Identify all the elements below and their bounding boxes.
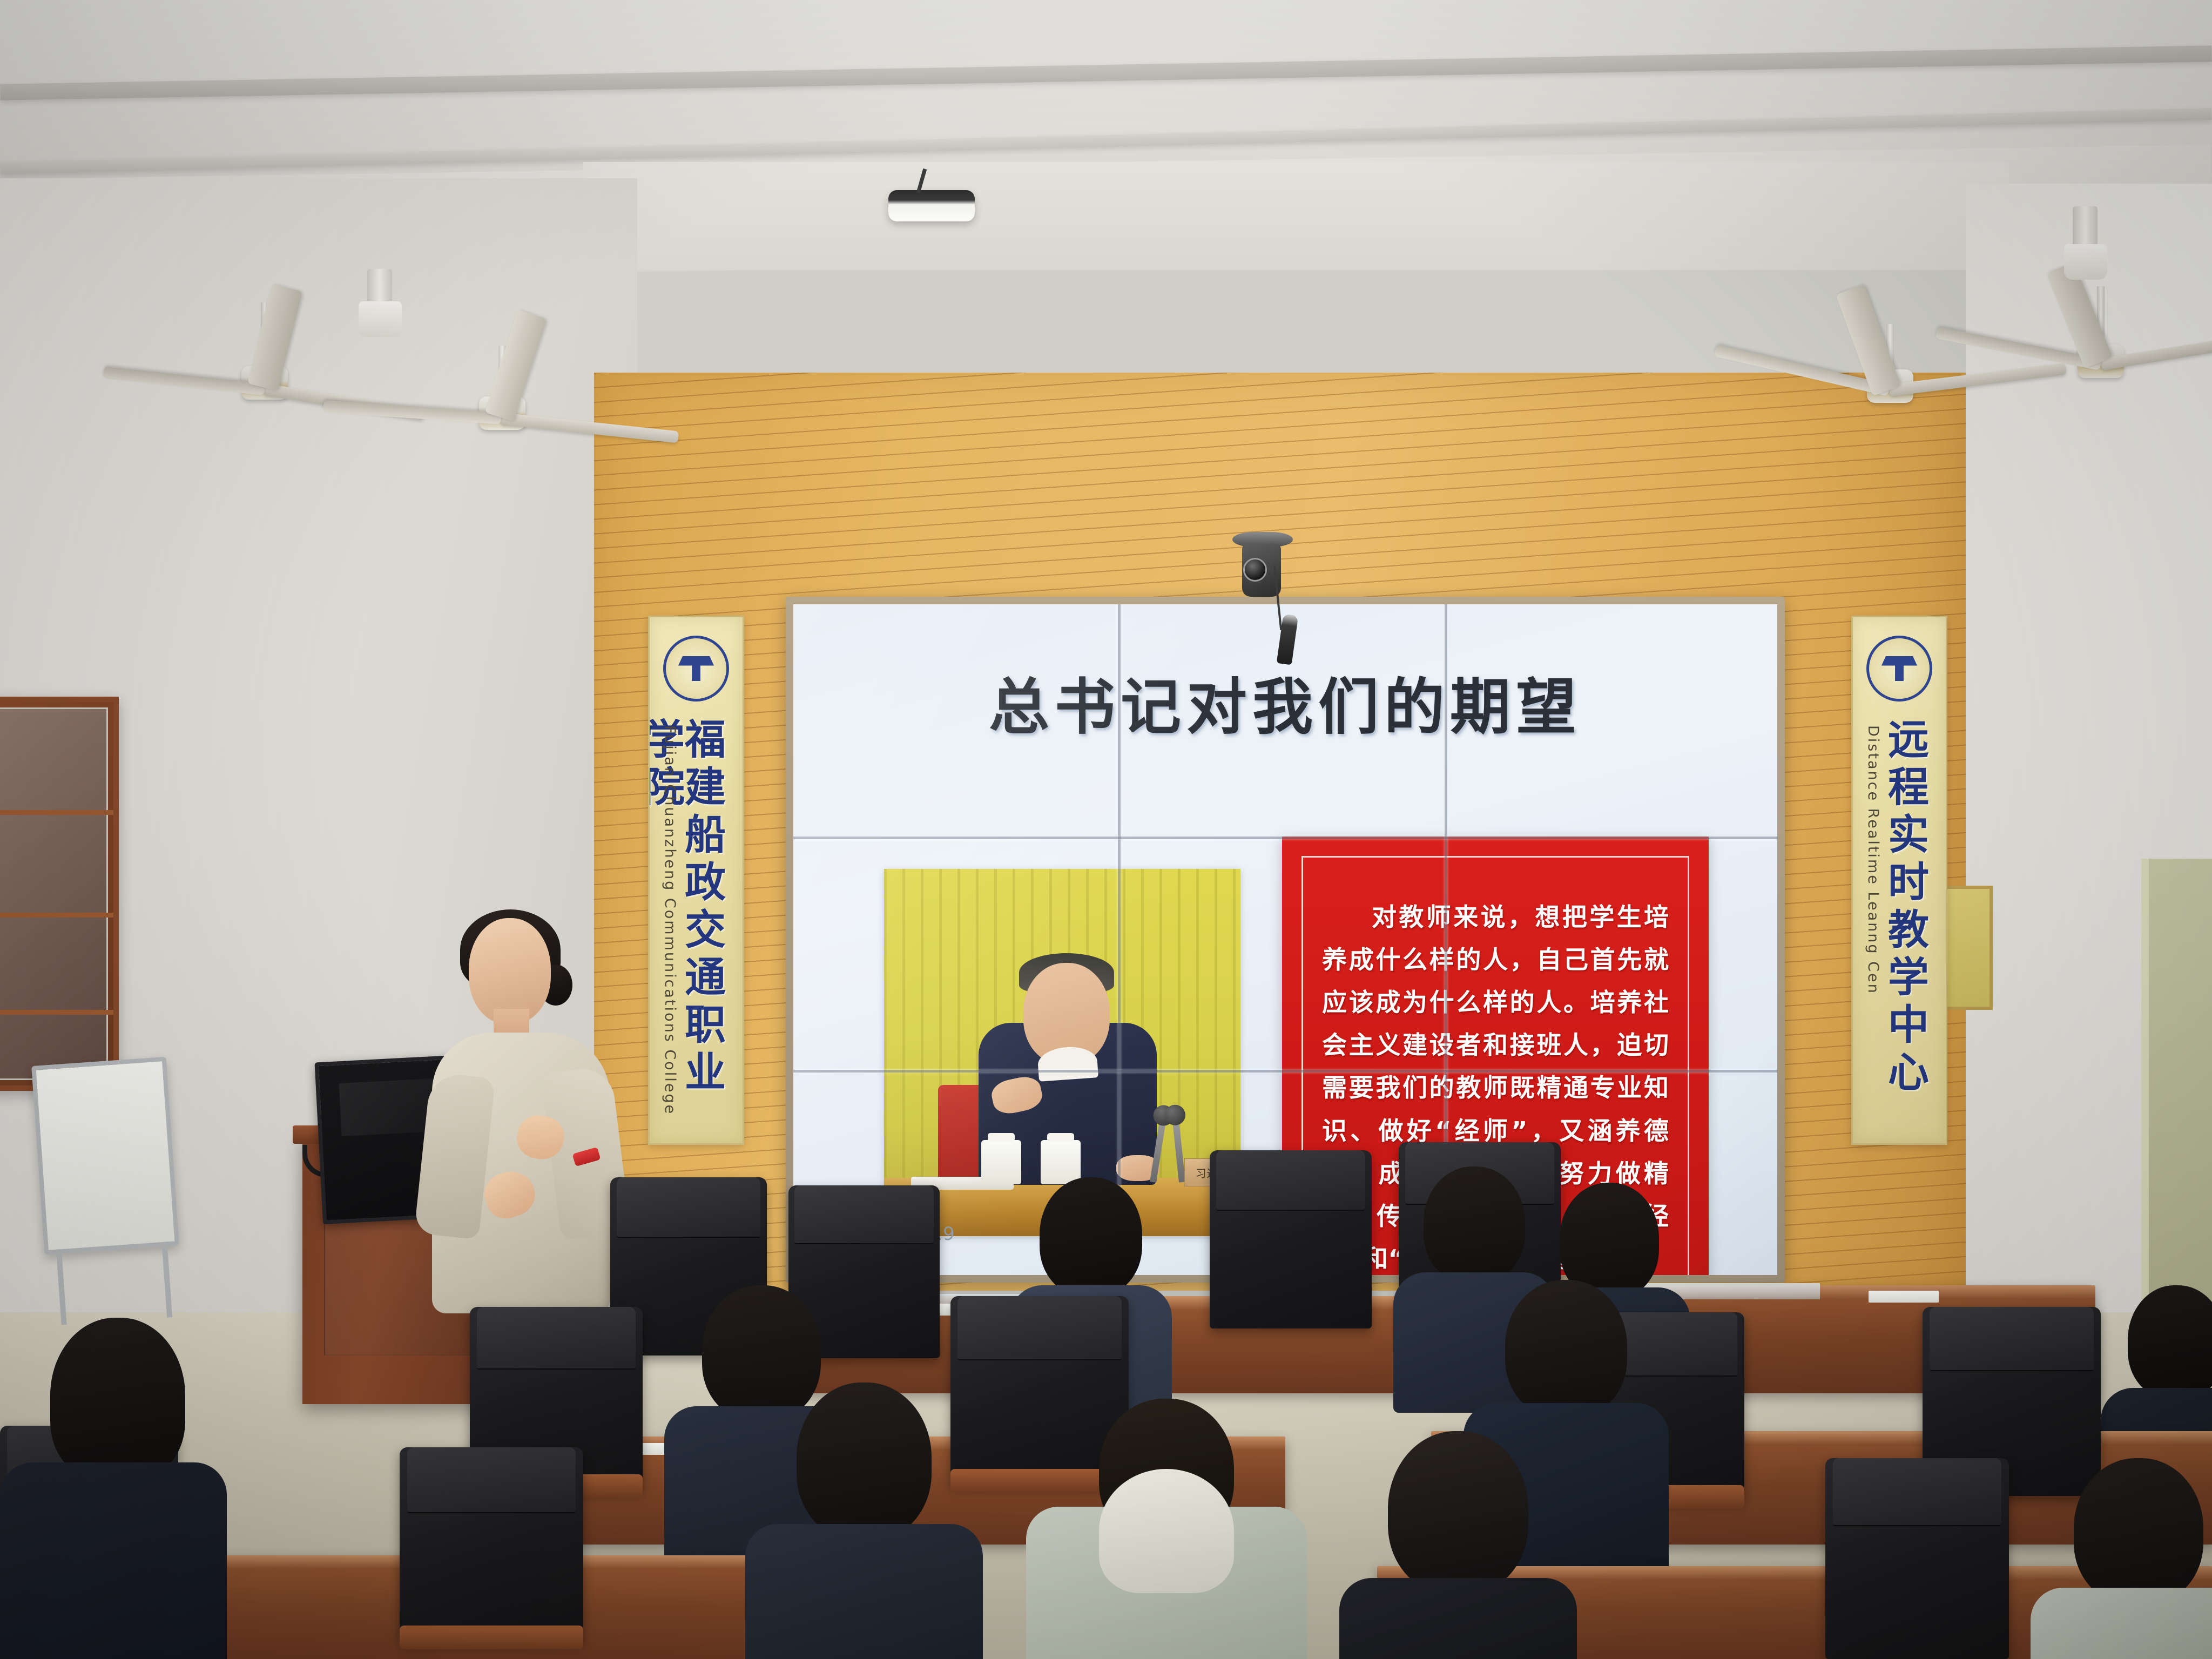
back-wall-upper <box>583 162 2009 270</box>
video-wall-bezel <box>793 1070 1777 1073</box>
ceiling-speaker-icon <box>888 190 975 221</box>
hood <box>1099 1469 1234 1593</box>
ceiling-fan-icon <box>1923 286 2212 421</box>
presenter-figure <box>427 918 632 1312</box>
audience-chair[interactable] <box>400 1447 583 1642</box>
audience-person <box>0 1318 227 1658</box>
school-crest-icon <box>663 636 729 702</box>
audience-chair[interactable] <box>1825 1458 2009 1659</box>
ceiling-fan-icon <box>313 346 691 475</box>
banner-right: 远程实时教学中心 Distance Realtime Leanng Cen <box>1851 616 1947 1145</box>
mobile-whiteboard[interactable] <box>31 1057 179 1255</box>
ptz-camera-icon <box>1237 532 1289 602</box>
lecture-hall-scene: 总书记对我们的期望 <box>0 0 2212 1659</box>
audience-person <box>2031 1458 2212 1659</box>
slide-title: 总书记对我们的期望 <box>793 658 1777 746</box>
video-wall-bezel <box>793 837 1777 839</box>
banner-left: 福建船政交通职业学院 Fujian Chuanzheng Communicati… <box>648 616 744 1145</box>
audience-chair[interactable] <box>1210 1150 1372 1328</box>
pendant-light-icon <box>2073 206 2098 246</box>
pendant-light-icon <box>367 269 392 304</box>
glass-door-bookcase[interactable] <box>0 697 119 1091</box>
audience-person <box>1339 1431 1577 1659</box>
banner-right-english: Distance Realtime Leanng Cen <box>1865 725 1881 995</box>
camera-lens-icon <box>1243 558 1267 582</box>
school-crest-icon <box>1866 636 1932 702</box>
banner-left-english: Fujian Chuanzheng Communications College <box>662 725 678 1115</box>
video-wall-bezel <box>1118 604 1121 1275</box>
audience-person <box>1026 1399 1307 1659</box>
audience-person <box>745 1382 983 1659</box>
